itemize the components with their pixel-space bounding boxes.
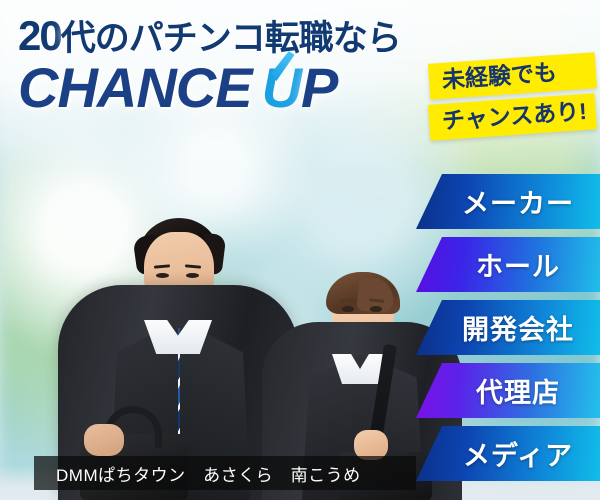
headline-age-number: 20 xyxy=(18,12,61,59)
woman-eye-left xyxy=(342,306,354,312)
headline-line-1-text: 代のパチンコ転職なら xyxy=(61,19,401,58)
category-button-maker[interactable]: メーカー xyxy=(416,174,600,229)
headline-line-2: CHANCE UP xyxy=(18,60,401,116)
logo-up-letter-p: P xyxy=(301,56,337,119)
logo-up-letter-u: U xyxy=(262,56,301,119)
promo-badge-line-2: チャンスあり! xyxy=(428,93,597,141)
woman-hair-bangs xyxy=(326,272,400,314)
category-button-media[interactable]: メディア xyxy=(416,426,600,481)
category-button-developer[interactable]: 開発会社 xyxy=(416,300,600,355)
logo-up-text: UP xyxy=(262,56,338,119)
category-button-hall[interactable]: ホール xyxy=(416,237,600,292)
man-eye-right xyxy=(186,273,199,278)
category-button-agency[interactable]: 代理店 xyxy=(416,363,600,418)
man-hand xyxy=(84,424,124,456)
headline-block: 20代のパチンコ転職なら CHANCE UP xyxy=(18,14,401,116)
category-button-list: メーカー ホール 開発会社 代理店 メディア xyxy=(416,174,600,489)
promo-badge-line-1: 未経験でも xyxy=(428,52,597,100)
logo-chance-text: CHANCE xyxy=(18,60,252,116)
woman-eye-right xyxy=(370,306,382,312)
banner-advertisement[interactable]: 20代のパチンコ転職なら CHANCE UP 未経験でも チャンスあり! メーカ… xyxy=(0,0,600,500)
man-eye-left xyxy=(156,273,169,278)
promo-badge: 未経験でも チャンスあり! xyxy=(429,58,596,135)
credits-caption: DMMぱちタウン あさくら 南こうめ xyxy=(34,456,416,490)
logo-up-wrapper: UP xyxy=(262,60,338,116)
headline-line-1: 20代のパチンコ転職なら xyxy=(18,14,401,58)
